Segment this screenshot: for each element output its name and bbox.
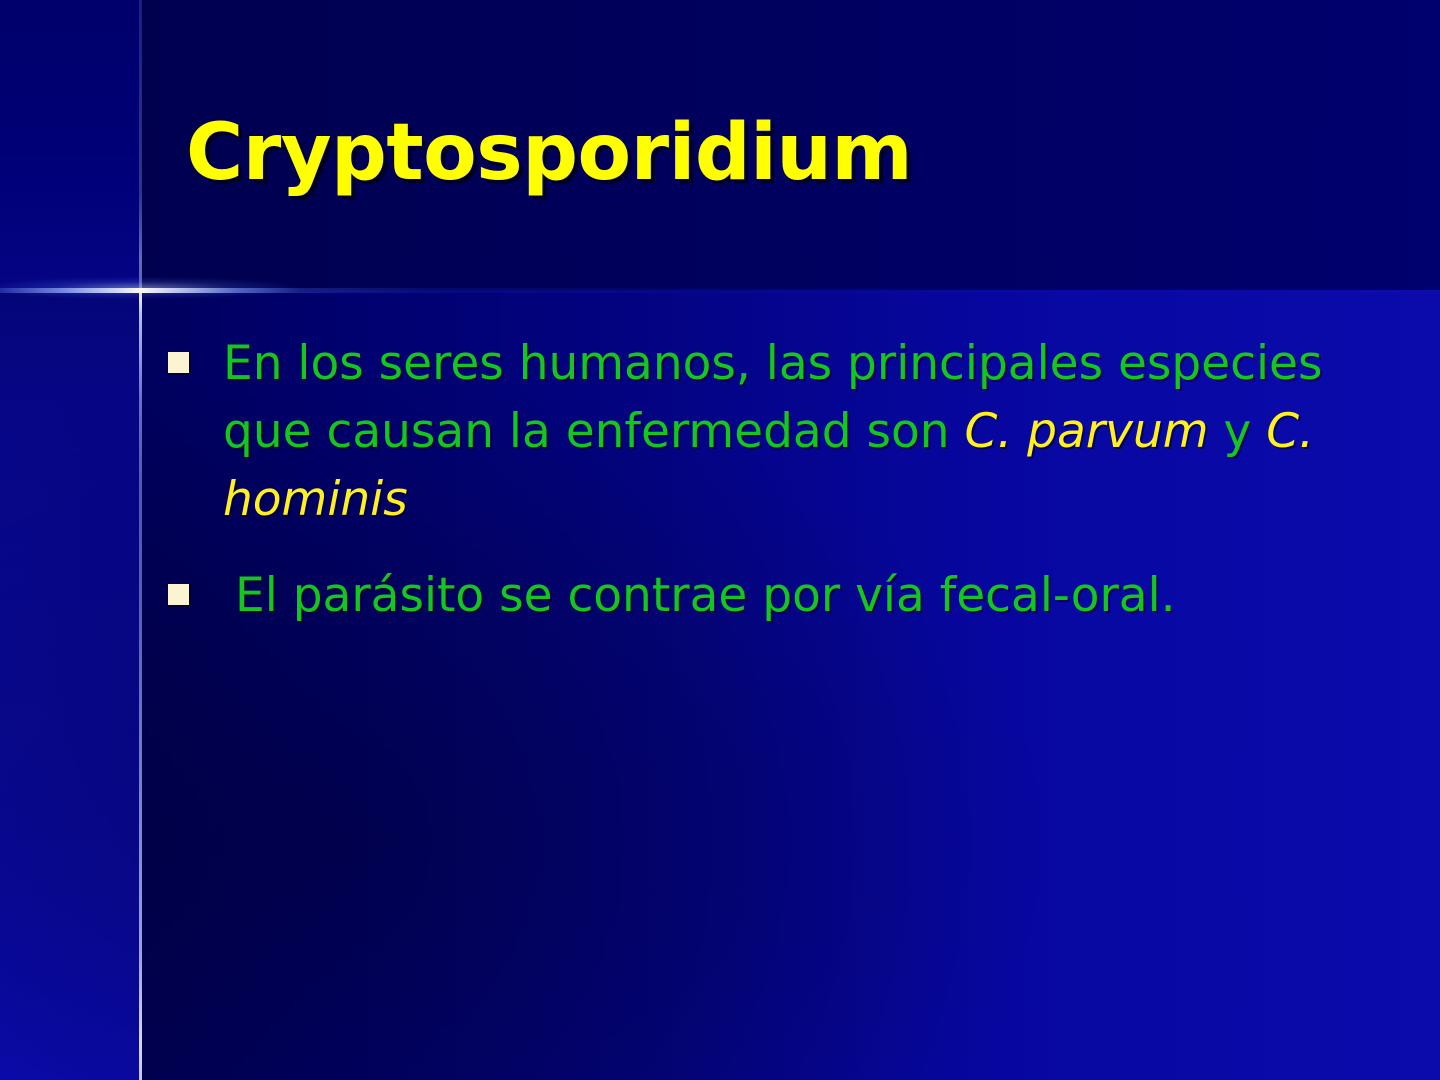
decorative-horizontal-light-line [0,288,1440,293]
slide-body: En los seres humanos, las principales es… [168,330,1398,630]
bullet-segment-text: El parásito se contrae por vía fecal-ora… [235,568,1176,623]
bullet-text: En los seres humanos, las principales es… [223,330,1398,534]
slide-background-left-strip-top [0,0,139,291]
decorative-vertical-light-line-lower [139,291,142,1080]
bullet-segment-conjunction: y [1209,404,1267,459]
slide-title: Cryptosporidium [186,114,912,192]
bullet-item: El parásito se contrae por vía fecal-ora… [168,562,1398,630]
species-name-parvum: C. parvum [964,404,1208,459]
square-bullet-icon [168,352,189,373]
slide-background-left-strip [0,290,139,1080]
presentation-slide: Cryptosporidium En los seres humanos, la… [0,0,1440,1080]
bullet-text: El parásito se contrae por vía fecal-ora… [235,562,1398,630]
square-bullet-icon [168,584,189,605]
bullet-item: En los seres humanos, las principales es… [168,330,1398,534]
